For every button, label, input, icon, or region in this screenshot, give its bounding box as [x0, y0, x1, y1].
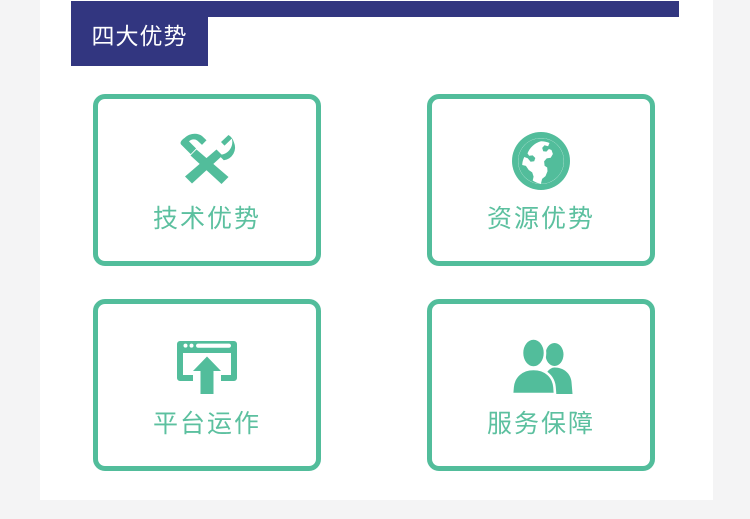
section-title-text: 四大优势: [92, 26, 188, 49]
globe-icon: [508, 130, 574, 192]
advantage-card-label: 平台运作: [153, 411, 261, 436]
advantage-card-label: 资源优势: [487, 206, 595, 231]
advantage-card-platform[interactable]: 平台运作: [93, 299, 321, 471]
people-icon: [508, 335, 574, 397]
page-root: 四大优势 技术优势: [0, 0, 750, 519]
advantage-card-grid: 技术优势 资源优势: [93, 94, 656, 471]
section-title-tab: 四大优势: [71, 9, 208, 66]
advantage-card-label: 技术优势: [153, 206, 261, 231]
advantage-card-technology[interactable]: 技术优势: [93, 94, 321, 266]
advantage-card-resources[interactable]: 资源优势: [427, 94, 655, 266]
advantage-card-label: 服务保障: [487, 411, 595, 436]
advantage-card-service[interactable]: 服务保障: [427, 299, 655, 471]
browser-upload-icon: [174, 335, 240, 397]
hammer-wrench-icon: [174, 130, 240, 192]
